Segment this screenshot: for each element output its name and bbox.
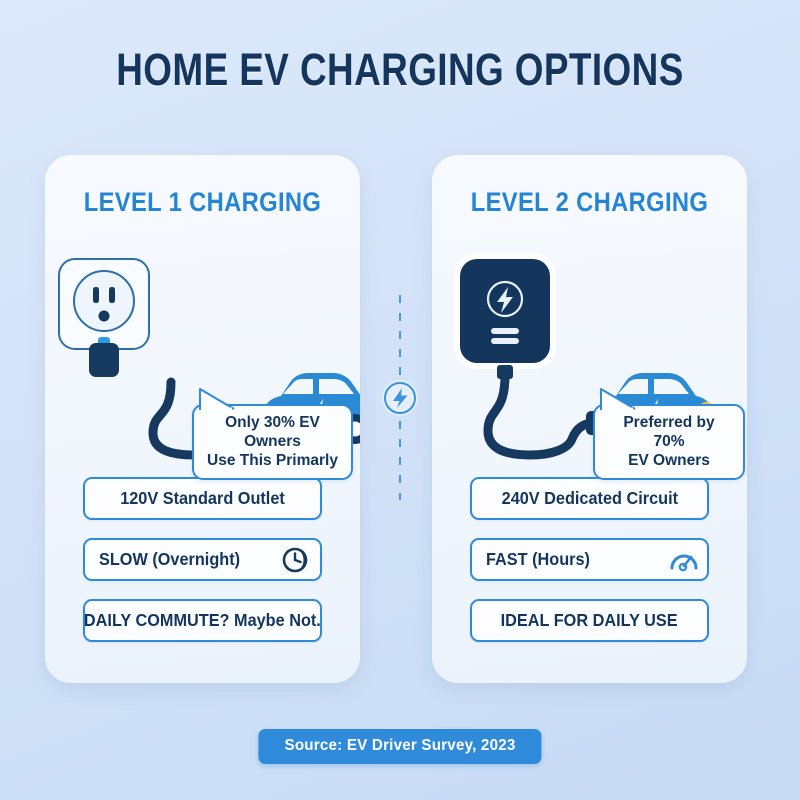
feature-label: FAST (Hours) bbox=[486, 549, 590, 570]
feature-pill-120v[interactable]: 120V Standard Outlet bbox=[83, 477, 322, 520]
feature-pill-daily-commute[interactable]: DAILY COMMUTE? Maybe Not. bbox=[83, 599, 322, 642]
callout-bubble-level-2: Preferred by 70% EV Owners bbox=[593, 404, 745, 480]
panel-heading-level-1: LEVEL 1 CHARGING bbox=[64, 187, 341, 218]
source-text: Source: EV Driver Survey, 2023 bbox=[284, 737, 515, 755]
feature-pill-ideal-daily[interactable]: IDEAL FOR DAILY USE bbox=[470, 599, 709, 642]
feature-list-level-1: 120V Standard Outlet SLOW (Overnight) DA… bbox=[83, 477, 322, 660]
clock-icon bbox=[282, 547, 308, 573]
callout-text: Preferred by 70% EV Owners bbox=[623, 414, 714, 469]
divider-badge bbox=[382, 380, 418, 416]
callout-text: Only 30% EV Owners Use This Primarly bbox=[207, 414, 338, 469]
feature-label: 240V Dedicated Circuit bbox=[501, 488, 677, 509]
wall-outlet-icon bbox=[59, 259, 149, 349]
page-title: HOME EV CHARGING OPTIONS bbox=[72, 44, 728, 96]
feature-label: IDEAL FOR DAILY USE bbox=[501, 610, 678, 631]
callout-bubble-level-1: Only 30% EV Owners Use This Primarly bbox=[192, 404, 353, 480]
bubble-tail bbox=[599, 379, 639, 408]
source-badge: Source: EV Driver Survey, 2023 bbox=[258, 729, 541, 764]
feature-pill-fast[interactable]: FAST (Hours) bbox=[470, 538, 709, 581]
feature-pill-slow[interactable]: SLOW (Overnight) bbox=[83, 538, 322, 581]
feature-label: SLOW (Overnight) bbox=[99, 549, 240, 570]
feature-list-level-2: 240V Dedicated Circuit FAST (Hours) IDEA… bbox=[470, 477, 709, 660]
feature-label: DAILY COMMUTE? Maybe Not. bbox=[84, 610, 321, 631]
gauge-icon bbox=[669, 547, 695, 573]
feature-pill-240v[interactable]: 240V Dedicated Circuit bbox=[470, 477, 709, 520]
wall-charger-icon bbox=[454, 253, 556, 379]
feature-label: 120V Standard Outlet bbox=[120, 488, 285, 509]
bubble-tail bbox=[198, 379, 238, 408]
panel-heading-level-2: LEVEL 2 CHARGING bbox=[451, 187, 728, 218]
